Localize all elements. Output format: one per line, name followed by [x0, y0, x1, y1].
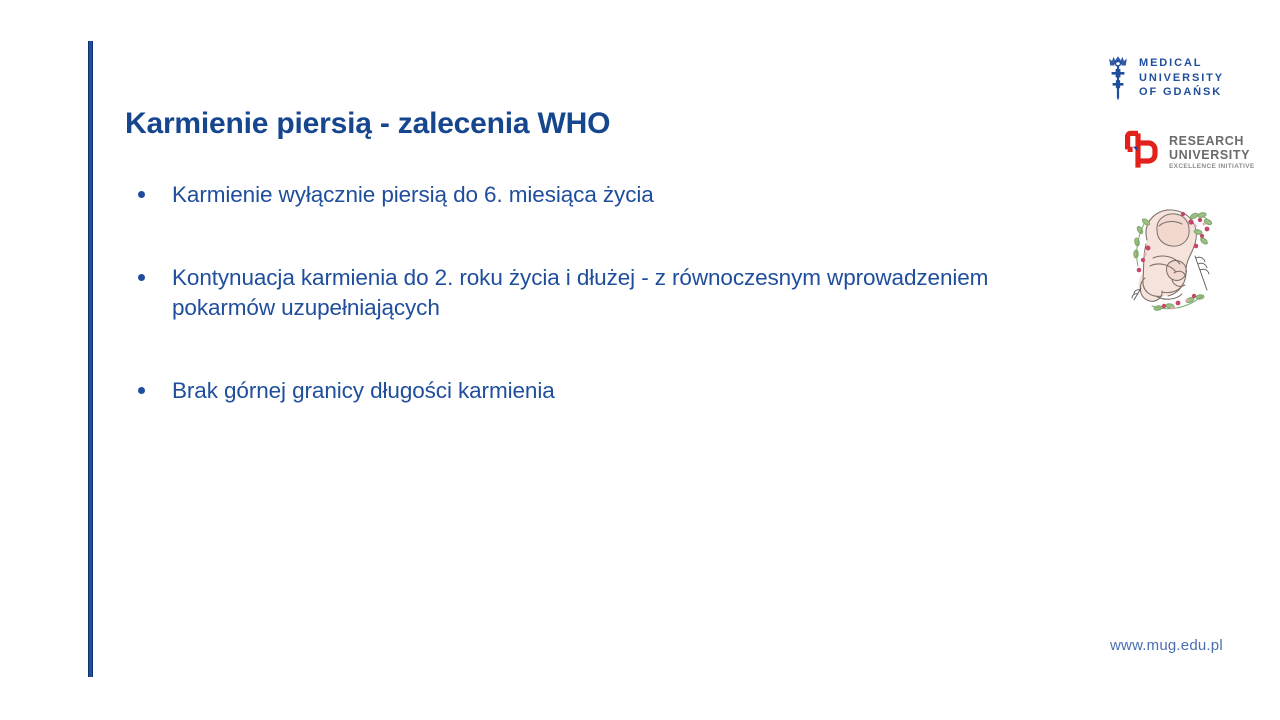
- left-accent-bar: [88, 41, 93, 677]
- bullet-text: Karmienie wyłącznie piersią do 6. miesią…: [172, 180, 1033, 210]
- research-logo-text: RESEARCH UNIVERSITY EXCELLENCE INITIATIV…: [1169, 134, 1255, 171]
- research-line-2: UNIVERSITY: [1169, 148, 1255, 162]
- footer-url[interactable]: www.mug.edu.pl: [1110, 637, 1223, 654]
- list-item: Brak górnej granicy długości karmienia: [133, 376, 1033, 406]
- caduceus-crown-icon: [1106, 55, 1130, 101]
- research-line-1: RESEARCH: [1169, 134, 1255, 148]
- research-tagline: EXCELLENCE INITIATIVE: [1169, 164, 1255, 171]
- university-line-1: MEDICAL: [1139, 56, 1224, 71]
- medical-university-logo: MEDICAL UNIVERSITY OF GDAŃSK: [1106, 55, 1224, 101]
- slide: Karmienie piersią - zalecenia WHO Karmie…: [0, 0, 1280, 720]
- page-title: Karmienie piersią - zalecenia WHO: [125, 106, 985, 142]
- research-university-mark-icon: [1118, 129, 1160, 175]
- bullet-dot-icon: [138, 191, 145, 198]
- bullet-dot-icon: [138, 274, 145, 281]
- mother-and-baby-floral-illustration: [1112, 196, 1234, 314]
- bullet-text: Brak górnej granicy długości karmienia: [172, 376, 1033, 406]
- university-line-3: OF GDAŃSK: [1139, 85, 1224, 100]
- research-university-logo: RESEARCH UNIVERSITY EXCELLENCE INITIATIV…: [1118, 129, 1255, 175]
- list-item: Karmienie wyłącznie piersią do 6. miesią…: [133, 180, 1033, 210]
- university-logo-text: MEDICAL UNIVERSITY OF GDAŃSK: [1139, 56, 1224, 100]
- bullet-dot-icon: [138, 387, 145, 394]
- list-item: Kontynuacja karmienia do 2. roku życia i…: [133, 263, 1033, 323]
- bullet-list: Karmienie wyłącznie piersią do 6. miesią…: [133, 180, 1033, 406]
- university-line-2: UNIVERSITY: [1139, 71, 1224, 86]
- bullet-text: Kontynuacja karmienia do 2. roku życia i…: [172, 263, 1033, 323]
